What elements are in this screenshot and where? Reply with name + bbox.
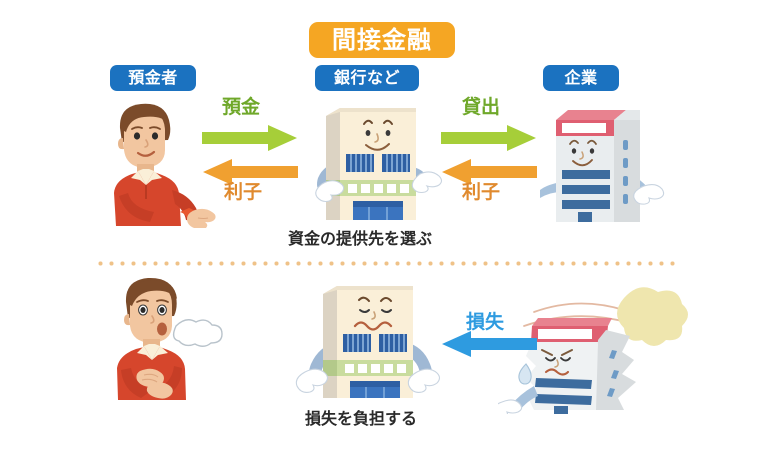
label-interest-right: 利子 (462, 183, 500, 202)
figure-bank-building (296, 100, 456, 228)
caption-bottom: 損失を負担する (305, 411, 417, 427)
section-divider (95, 261, 675, 266)
badge-company: 企業 (543, 65, 619, 91)
figure-bank-distressed (287, 276, 455, 408)
arrow-loan (441, 124, 537, 156)
figure-depositor (92, 98, 216, 228)
label-interest-left: 利子 (224, 183, 262, 202)
figure-company-building (540, 98, 692, 232)
arrow-deposit (202, 124, 298, 156)
label-loss: 損失 (466, 313, 504, 332)
diagram-title-badge: 間接金融 (309, 22, 455, 58)
badge-depositor: 預金者 (110, 65, 196, 91)
arrow-loss (441, 330, 537, 362)
figure-depositor-relieved (96, 274, 246, 402)
label-loan: 貸出 (462, 98, 500, 117)
caption-top: 資金の提供先を選ぶ (288, 231, 432, 247)
diagram-canvas: 間接金融 預金者 銀行など 企業 (0, 0, 764, 460)
badge-bank: 銀行など (315, 65, 419, 91)
label-deposit: 預金 (222, 98, 260, 117)
